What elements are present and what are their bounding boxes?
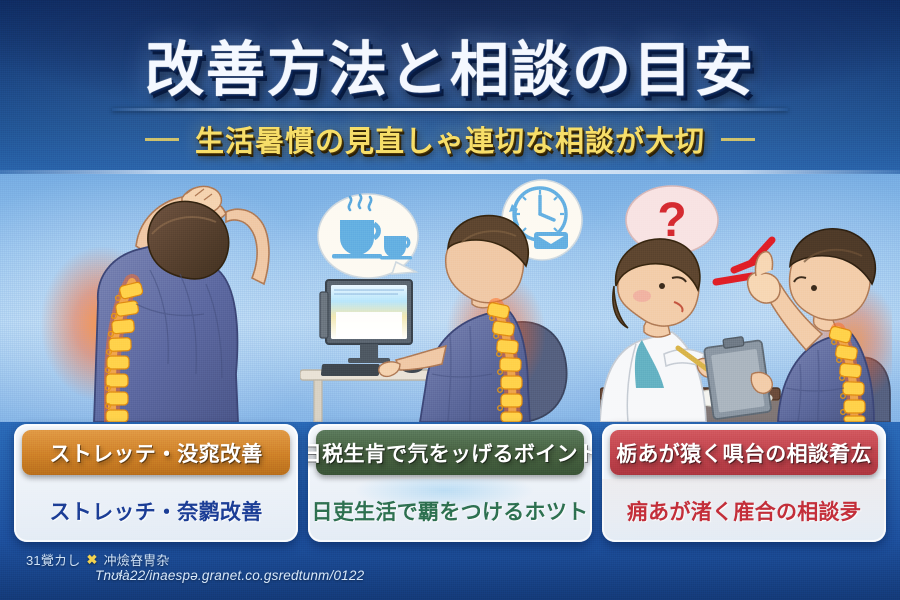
card-daily-habits[interactable]: 日税生肯で氕をッげるボイント 日吏生活で覇をつけるホツト [308, 424, 592, 542]
card-header-bar: 日税生肯で氕をッげるボイント [316, 430, 584, 475]
cross-mark-icon: ✖ [86, 552, 97, 568]
scene-stretching [40, 174, 320, 422]
source-url-text: Tnʊɬà22/inaespə.granet.co.gsredtunm/0122 [95, 568, 364, 583]
card-body-text: ストレッチ・奈鹲改善 [50, 496, 263, 526]
scene-consultation: ? [600, 174, 892, 422]
coffee-bubble-group [318, 194, 418, 278]
cards-row: ストレッテ・没窕改善 ストレッチ・奈鹲改善 日税生肯で氕をッげるボイント 日吏生… [0, 424, 900, 542]
title-divider-rule [112, 108, 788, 111]
page-subtitle: 生活暑慣の見直しゃ連切な相談が大切 [195, 118, 705, 160]
card-header-text: ストレッテ・没窕改善 [50, 438, 263, 468]
subtitle-row: 生活暑慣の見直しゃ連切な相談が大切 [0, 118, 900, 160]
card-body: 日吏生活で覇をつけるホツト [308, 479, 592, 542]
card-consultation[interactable]: 栃あが猿く㖵台の相談肴厷 痈あが渚く㢈合の相談夛 [602, 424, 886, 542]
header-band: 改善方法と相談の目安 生活暑慣の見直しゃ連切な相談が大切 [0, 0, 900, 174]
illustration-band: ? [0, 174, 900, 422]
page-title: 改善方法と相談の目安 [0, 22, 900, 107]
card-body: 痈あが渚く㢈合の相談夛 [602, 479, 886, 542]
poster-root: 改善方法と相談の目安 生活暑慣の見直しゃ連切な相談が大切 [0, 0, 900, 600]
card-header-text: 日税生肯で氕をッげるボイント [308, 438, 592, 468]
card-header-bar: 栃あが猿く㖵台の相談肴厷 [610, 430, 878, 475]
scene-desk-work [300, 174, 590, 422]
footer-band: 31覮カし ✖ 冲㷿昚冑杂 Tnʊɬà22/inaespə.granet.co.… [0, 546, 900, 600]
credit-suffix-text: 冲㷿昚冑杂 [104, 550, 170, 569]
subtitle-dash-left [145, 138, 179, 141]
card-body-text: 痈あが渚く㢈合の相談夛 [627, 496, 861, 526]
card-body: ストレッチ・奈鹲改善 [14, 479, 298, 542]
subtitle-dash-right [721, 138, 755, 141]
card-header-bar: ストレッテ・没窕改善 [22, 430, 290, 475]
credit-line: 31覮カし ✖ 冲㷿昚冑杂 [26, 550, 170, 569]
credit-prefix-text: 31覮カし [26, 550, 80, 569]
card-stretching[interactable]: ストレッテ・没窕改善 ストレッチ・奈鹲改善 [14, 424, 298, 542]
card-body-text: 日吏生活で覇をつけるホツト [312, 496, 589, 526]
card-header-text: 栃あが猿く㖵台の相談肴厷 [616, 438, 872, 468]
